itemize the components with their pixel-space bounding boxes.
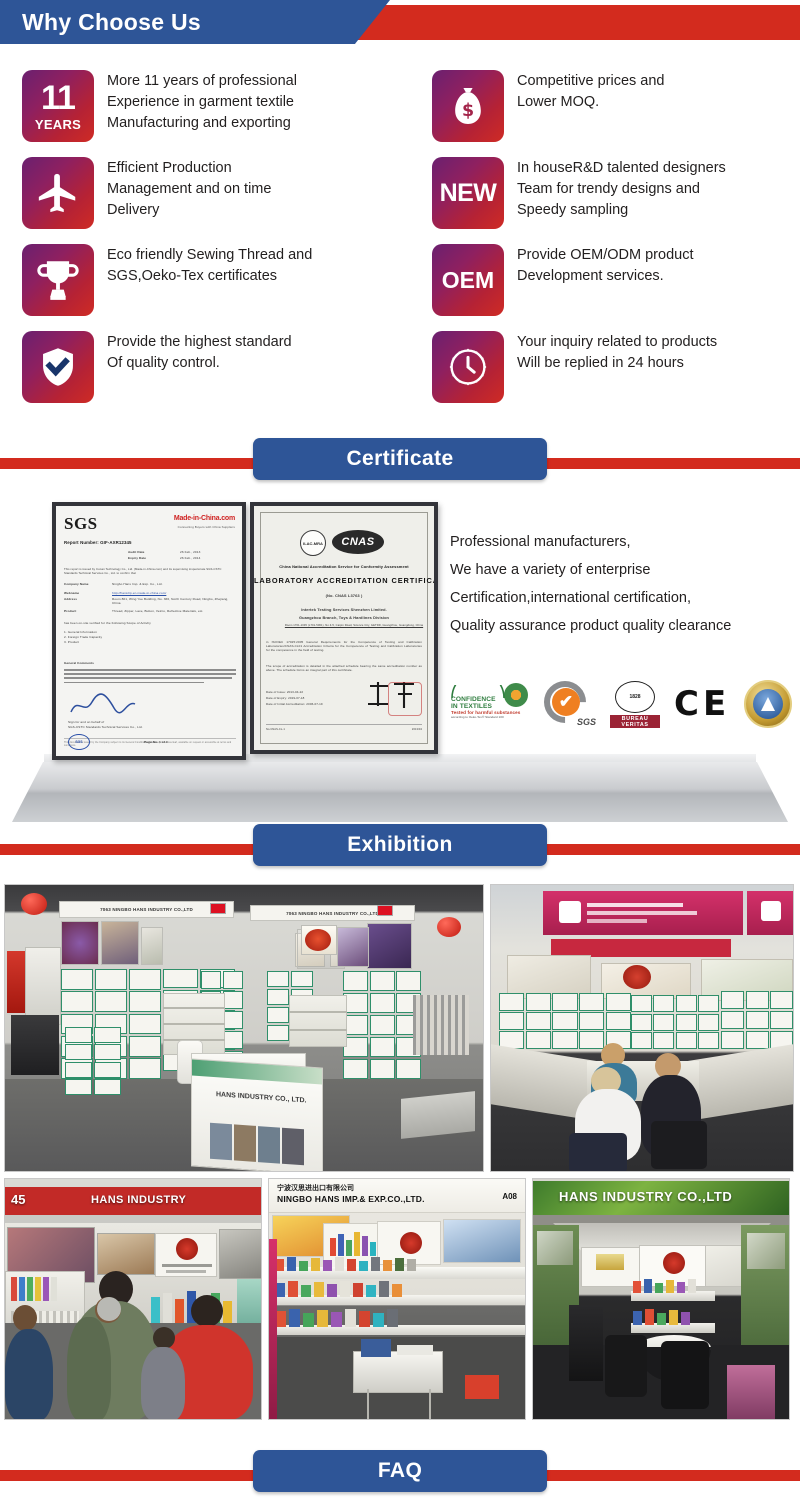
organization-division: Guangzhou Branch, Toys & Hardlines Divis… [254,616,434,620]
organization-address: Room 1701-1045 (L701-5061), No.3-5, Caip… [264,624,434,627]
feature-text: Provide OEM/ODM product Development serv… [504,244,693,287]
booth-sign-left: 7063 NINGBO HANS INDUSTRY CO.,LTD [59,901,234,918]
features-column-right: $ Competitive prices and Lower MOQ. NEW … [400,70,800,418]
shelf-line [163,1023,225,1025]
feature-item-quality: Provide the highest standard Of quality … [22,331,400,403]
cnas-laboratory-accreditation-certificate[interactable]: ILAC-MRA CNAS China National Accreditati… [250,502,438,754]
badge-inner-icon [753,689,783,719]
feature-line: More 11 years of professional [107,71,297,92]
certificate-section-header: Certificate [0,436,800,492]
poster-text-line [162,1264,212,1267]
sgs-stamp: SGS [68,734,90,750]
brand-poster [155,1233,217,1277]
side-poster [537,1231,573,1265]
booth-company-name: HANS INDUSTRY CO.,LTD [559,1189,732,1204]
certificate-footer-number: No.CNAS-CL-1 [266,728,285,732]
oem-label-icon: OEM [432,244,504,316]
svg-text:$: $ [462,101,474,121]
banner-logo-icon [559,901,581,923]
new-label-text: NEW [440,179,497,208]
booth-number: 45 [11,1192,25,1207]
signature [68,692,138,718]
address-label: Address [64,597,77,601]
shelf-line [289,1029,347,1031]
work-table [353,1351,443,1393]
feature-item-production: Efficient Production Management and on t… [22,157,400,229]
oeko-line-2: IN TEXTILES [451,703,520,710]
accreditation-body-1: in ISO/IEC 17025:2005 General Requiremen… [266,640,422,653]
exhibition-row-bottom: 45 HANS INDUSTRY [0,1178,800,1420]
person-body [5,1329,53,1420]
product-poster [367,923,412,969]
certificate-seal [596,1254,624,1270]
sample-board [343,971,421,1079]
trolley [401,1091,475,1139]
person-head [191,1295,223,1327]
shelf-line [289,1011,347,1013]
certificate-body: SGS Made-in-China.com Connecting Buyers … [0,492,800,822]
years-label: YEARS [35,118,81,131]
webname-label: Webname [64,591,79,595]
reception-counter: HANS INDUSTRY CO., LTD. [191,1058,323,1172]
faq-heading-plate: FAQ [253,1450,547,1492]
features-column-left: 11 YEARS More 11 years of professional E… [0,70,400,418]
sgs-brand: SGS [64,514,98,534]
report-intro: This report is issued by Conan Technolog… [64,568,236,576]
brand-logo-icon [400,1232,422,1254]
faq-heading: FAQ [378,1459,422,1483]
sgs-logo: ✔ SGS [542,681,596,727]
counter-company-name: HANS INDUSTRY CO., LTD. [216,1091,306,1104]
bv-emblem-year: 1828 [629,694,640,700]
pink-hanging-banner [543,891,743,935]
years-number: 11 [35,81,81,115]
certificate-footer-page: 2013/04 [412,728,422,732]
trophy-icon [22,244,94,316]
scope-title: has been on-site verified for the Follow… [64,621,151,625]
shelf-platform [12,762,788,822]
booth-sign-left-text: 7063 NINGBO HANS INDUSTRY CO.,LTD [100,907,193,912]
made-in-china-tagline: Connecting Buyers with China Suppliers [178,525,235,529]
divider [266,724,422,725]
dark-display-unit [11,1015,59,1075]
faq-section-header: FAQ [0,1448,800,1504]
feature-line: Your inquiry related to products [517,332,717,353]
product-label: Product [64,609,76,613]
bureau-veritas-logo: 1828 BUREAU VERITAS [610,681,660,727]
shield-check-icon [22,331,94,403]
oeko-line-4: according to Oeko-Tex® Standard 100 [451,715,520,719]
accreditation-body-2: The scope of accreditation is detailed i… [266,664,422,672]
certificate-description-line: Professional manufacturers, [450,528,731,556]
feature-text: Eco friendly Sewing Thread and SGS,Oeko-… [94,244,312,287]
feature-text: In houseR&D talented designers Team for … [504,157,726,221]
feature-item-rnd: NEW In houseR&D talented designers Team … [432,157,800,229]
exhibition-heading: Exhibition [347,833,453,857]
oeko-text-block: CONFIDENCE IN TEXTILES Tested for harmfu… [451,696,520,719]
shelf-goods-row [633,1309,713,1325]
ilac-mra-mark: ILAC-MRA [300,530,326,556]
sample-board [721,991,793,1049]
banner-edge [5,1215,261,1223]
signed-company: SGS-CSTC Standards Technical Services Co… [68,725,143,729]
why-choose-us-page: Why Choose Us 11 YEARS More 11 years of … [0,0,800,1504]
exhibition-photo-meeting-with-buyers[interactable] [490,884,794,1172]
person-head-grey-hair [97,1297,121,1321]
green-header-banner: HANS INDUSTRY CO.,LTD [533,1181,789,1215]
booth-company-name: HANS INDUSTRY [91,1194,186,1206]
feature-line: Manufacturing and exporting [107,113,297,134]
feature-item-reply: Your inquiry related to products Will be… [432,331,800,403]
why-choose-us-header: Why Choose Us [0,0,800,48]
certificate-description-line: We have a variety of enterprise [450,556,731,584]
stand-header-banner: 45 HANS INDUSTRY [5,1187,261,1215]
person-head-child [153,1327,175,1349]
bureau-veritas-emblem-icon: 1828 [615,681,655,713]
table-item [361,1339,391,1357]
chair [661,1341,709,1409]
exhibition-section-header: Exhibition [0,822,800,878]
feature-text: Provide the highest standard Of quality … [94,331,292,374]
bv-line-2: VERITAS [621,722,648,728]
feature-line: Eco friendly Sewing Thread and [107,245,312,266]
exhibition-heading-plate: Exhibition [253,824,547,866]
china-flag-icon [210,903,226,914]
person-body [67,1317,111,1420]
poster-text-line [166,1270,206,1273]
feature-line: Development services. [517,266,693,287]
chair [605,1335,647,1397]
display-shelf [289,995,347,1047]
feature-line: Will be replied in 24 hours [517,353,717,374]
sample-board [65,1027,121,1095]
signed-by-line: Sign for and on behalf of [68,720,104,724]
counter-photo-strip [210,1123,304,1166]
organization-name: Intertek Testing Services Shenzhen Limit… [254,608,434,612]
pink-curtain [269,1239,277,1420]
sgs-audit-report-certificate[interactable]: SGS Made-in-China.com Connecting Buyers … [52,502,246,760]
side-poster [747,1233,785,1269]
pink-banner-right [747,891,794,935]
company-name-label: Company Name [64,582,89,586]
new-label-icon: NEW [432,157,504,229]
bureau-veritas-wordmark: BUREAU VERITAS [610,715,660,728]
china-flag-icon [377,905,393,916]
shelf-line [163,1007,225,1009]
certificate-heading: Certificate [346,447,453,471]
red-lantern-icon [437,917,461,937]
red-lantern-icon [21,893,47,915]
faq-section: FAQ [0,1420,800,1504]
feature-line: Competitive prices and [517,71,665,92]
feature-line: Management and on time [107,179,271,200]
pink-display-box [727,1365,775,1420]
hanging-samples [569,1305,603,1381]
certification-logos: CONFIDENCE IN TEXTILES Tested for harmfu… [450,680,792,728]
audit-date-label: Audit Date [128,550,144,554]
oem-label-text: OEM [442,267,494,294]
banner-logo-icon [761,901,781,921]
shelf-goods-row [275,1281,521,1297]
person-body-child [141,1347,185,1420]
sgs-wordmark: SGS [577,717,596,727]
feature-item-price: $ Competitive prices and Lower MOQ. [432,70,800,142]
comments-lines [64,669,236,683]
feature-line: SGS,Oeko-Tex certificates [107,266,312,287]
feature-line: Provide the highest standard [107,332,292,353]
brand-logo-icon [305,929,331,951]
brand-logo-icon [176,1238,198,1260]
page-footer: Page No. 1 of 4 [144,740,168,744]
certificate-title: LABORATORY ACCREDITATION CERTIFICATE [254,576,434,585]
report-number: Report Number: GIF-AXR12345 [64,540,132,545]
feature-line: In houseR&D talented designers [517,158,726,179]
features-grid: 11 YEARS More 11 years of professional E… [0,48,800,436]
feature-line: Delivery [107,200,271,221]
scope-item: 3. Product [64,640,79,644]
shelf-goods-row [633,1279,713,1293]
shelf-goods-row [275,1257,521,1271]
office-chair [569,1133,627,1172]
red-fabric-display [7,951,27,1013]
webname-value: http://hanszip.en.made-in-china.com/ [112,591,166,595]
feature-line: Team for trendy designs and [517,179,726,200]
general-comments-title: General Comments [64,661,94,665]
feature-line: Provide OEM/ODM product [517,245,693,266]
feature-text: Efficient Production Management and on t… [94,157,271,221]
date-of-issue: Date of Issue: 2013-04-22 [266,690,303,694]
oeko-tex-confidence-in-textiles-logo: CONFIDENCE IN TEXTILES Tested for harmfu… [450,683,528,725]
factory-poster [97,1233,155,1275]
brand-logo-icon [623,965,651,989]
banner-text-line [587,919,647,923]
person-head [13,1305,37,1331]
feature-text: Competitive prices and Lower MOQ. [504,70,665,113]
gold-assessed-supplier-badge [744,680,792,728]
years-badge-icon: 11 YEARS [22,70,94,142]
ce-marking-logo: CE [674,684,730,724]
money-bag-icon: $ [432,70,504,142]
clock-icon [432,331,504,403]
feature-line: Lower MOQ. [517,92,665,113]
red-equipment [465,1375,499,1399]
cnas-mark: CNAS [332,530,384,554]
sgs-check-icon: ✔ [552,688,580,716]
office-chair [651,1121,707,1169]
feature-line: Experience in garment textile [107,92,297,113]
certificate-heading-plate: Certificate [253,438,547,480]
left-panel [25,947,61,1025]
exhibition-row-top: 7063 NINGBO HANS INDUSTRY CO.,LTD 7063 N… [0,884,800,1172]
feature-line: Of quality control. [107,353,292,374]
exhibition-photo-booth-overview[interactable]: 7063 NINGBO HANS INDUSTRY CO.,LTD 7063 N… [4,884,484,1172]
sample-board [631,995,719,1049]
product-poster [61,921,99,965]
audit-date-value: 26 Feb., 2013 [180,550,200,554]
product-poster [337,927,369,967]
booth-number: A08 [502,1192,517,1201]
red-stamp [388,682,422,716]
certificate-description-line: Certification,international certificatio… [450,584,731,612]
certificate-poster [581,1247,641,1287]
certificate-description-line: Quality assurance product quality cleara… [450,612,731,640]
oeko-line-1: CONFIDENCE [451,696,520,703]
address-value: Room 801, Wing Yue Building, No. 366, No… [112,597,236,606]
exhibition-photo-hans-industry-stand[interactable]: 45 HANS INDUSTRY [4,1178,262,1420]
scope-item: 1. General Information [64,630,97,634]
exhibition-photo-ningbo-hans-imp-exp[interactable]: 宁波汉思进出口有限公司 NINGBO HANS IMP.& EXP.CO.,LT… [268,1178,526,1420]
table-item [397,1345,433,1355]
feature-line: Speedy sampling [517,200,726,221]
company-name-value: Ningbo Hans Imp. & Exp. Co., Ltd. [112,582,163,586]
feature-text: More 11 years of professional Experience… [94,70,297,134]
booth-sign-right-text: 7063 NINGBO HANS INDUSTRY CO.,LTD [286,911,379,916]
exhibition-gallery: 7063 NINGBO HANS INDUSTRY CO.,LTD 7063 N… [0,878,800,1420]
banner-text-line [587,903,683,907]
fabric-rack [413,995,469,1055]
product-poster [101,921,139,965]
page-title: Why Choose Us [22,6,201,38]
date-of-initial-accreditation: Date of Initial Accreditation: 2006-07-1… [266,702,323,706]
expiry-date-label: Expiry Date [128,556,146,560]
feature-line: Efficient Production [107,158,271,179]
feature-item-oem: OEM Provide OEM/ODM product Development … [432,244,800,316]
sample-board [499,993,631,1049]
table-legs [367,1389,431,1420]
exhibition-photo-hans-industry-green-banner[interactable]: HANS INDUSTRY CO.,LTD [532,1178,790,1420]
thread-spools [11,1277,71,1301]
banner-text-line [587,911,697,915]
shelf-goods-row [275,1309,521,1327]
airplane-icon [22,157,94,229]
certificate-description: Professional manufacturers, We have a va… [450,528,731,640]
expiry-date-value: 26 Feb., 2014 [180,556,200,560]
feature-text: Your inquiry related to products Will be… [504,331,717,374]
header-red-bar [330,5,800,40]
certificate-number: (No. CNAS L3763 ) [254,594,434,598]
booth-fascia: 宁波汉思进出口有限公司 NINGBO HANS IMP.& EXP.CO.,LT… [269,1179,525,1213]
accreditation-authority: China National Accreditation Service for… [254,564,434,569]
brand-logo-icon [663,1252,685,1274]
product-poster [219,1229,262,1279]
feature-item-years: 11 YEARS More 11 years of professional E… [22,70,400,142]
made-in-china-logo: Made-in-China.com [174,515,235,522]
scope-item: 2. Foreign Trade Capacity [64,635,102,639]
booth-company-name-cn: 宁波汉思进出口有限公司 [277,1183,354,1193]
product-value: Thread, Zipper, Lace, Button, Velcro, Re… [112,609,203,613]
date-of-expiry: Date of Expiry: 2019-07-18 [266,696,304,700]
feature-item-eco: Eco friendly Sewing Thread and SGS,Oeko-… [22,244,400,316]
product-poster [141,927,163,965]
booth-company-name-en: NINGBO HANS IMP.& EXP.CO.,LTD. [277,1194,425,1204]
